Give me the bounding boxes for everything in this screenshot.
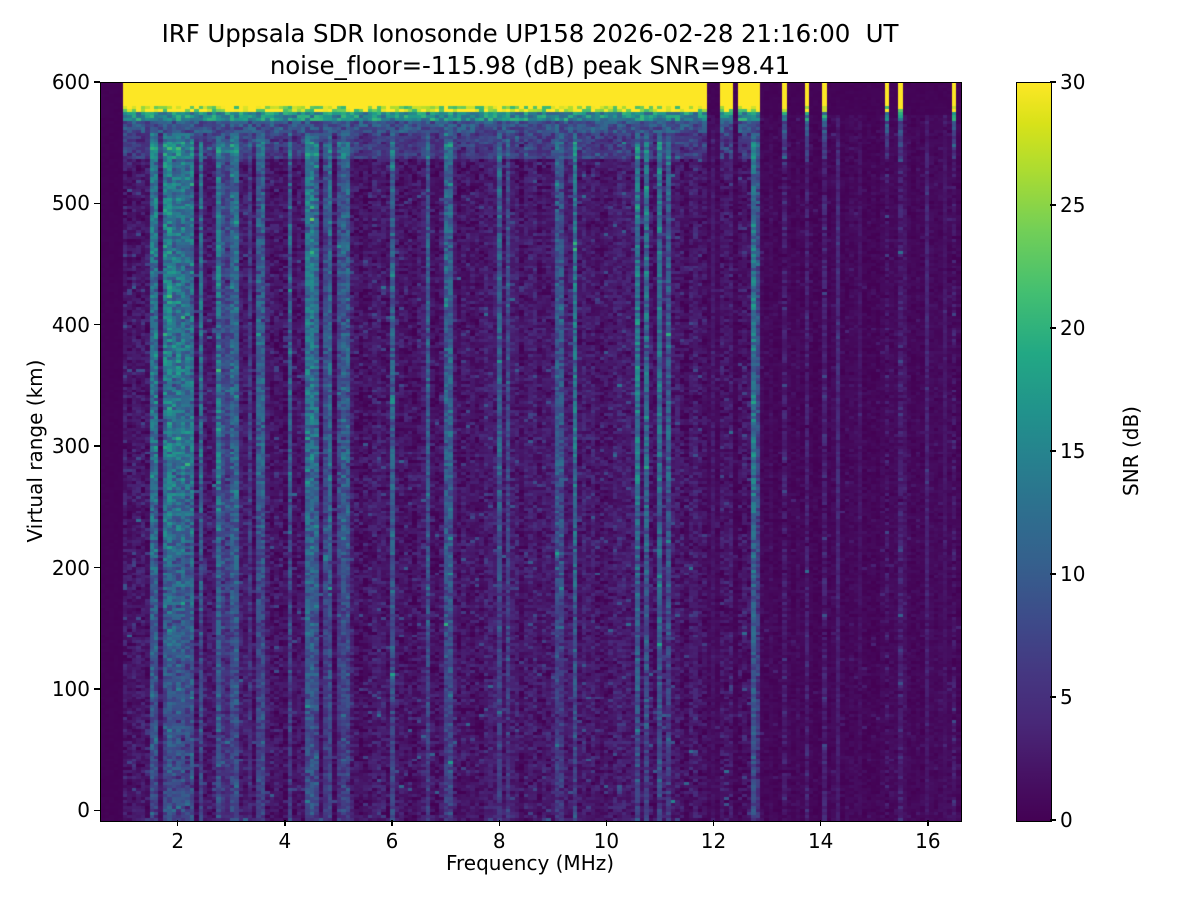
y-tick-mark [94,567,100,568]
y-tick-mark [94,688,100,689]
figure-title: IRF Uppsala SDR Ionosonde UP158 2026-02-… [0,18,1060,83]
colorbar-tick-mark [1050,204,1056,205]
colorbar-tick-label: 30 [1060,69,1085,95]
figure-title-line-2: noise_floor=-115.98 (dB) peak SNR=98.41 [0,50,1060,82]
y-tick-mark [94,81,100,82]
y-tick-label: 200 [52,555,90,581]
colorbar-tick-label: 25 [1060,192,1085,218]
colorbar-tick-mark [1050,81,1056,82]
y-tick-mark [94,203,100,204]
y-tick-mark [94,324,100,325]
y-tick-mark [94,810,100,811]
colorbar-gradient [1016,82,1052,822]
colorbar-tick-mark [1050,327,1056,328]
colorbar-tick-label: 0 [1060,807,1073,833]
colorbar-tick-mark [1050,573,1056,574]
colorbar-tick-label: 5 [1060,684,1073,710]
colorbar-tick-mark [1050,450,1056,451]
x-tick-mark [177,820,178,826]
x-tick-mark [820,820,821,826]
x-tick-mark [606,820,607,826]
figure-title-line-1: IRF Uppsala SDR Ionosonde UP158 2026-02-… [0,18,1060,50]
colorbar-tick-label: 10 [1060,561,1085,587]
x-tick-mark [927,820,928,826]
colorbar-tick-mark [1050,819,1056,820]
y-axis-ticks: 6005004003002001000 [0,0,100,900]
y-axis-label: Virtual range (km) [22,82,48,820]
y-tick-label: 400 [52,312,90,338]
colorbar-tick-label: 15 [1060,438,1085,464]
plot-area [100,82,962,822]
colorbar-label: SNR (dB) [1118,82,1144,820]
y-tick-mark [94,445,100,446]
y-tick-label: 300 [52,433,90,459]
x-tick-mark [713,820,714,826]
x-axis-label: Frequency (MHz) [100,851,960,875]
colorbar-tick-mark [1050,696,1056,697]
x-tick-mark [391,820,392,826]
x-tick-mark [499,820,500,826]
y-tick-label: 500 [52,190,90,216]
ionogram-heatmap [101,83,961,821]
y-tick-label: 100 [52,676,90,702]
ionogram-figure: IRF Uppsala SDR Ionosonde UP158 2026-02-… [0,0,1200,900]
colorbar-tick-label: 20 [1060,315,1085,341]
x-tick-mark [284,820,285,826]
y-tick-label: 600 [52,69,90,95]
